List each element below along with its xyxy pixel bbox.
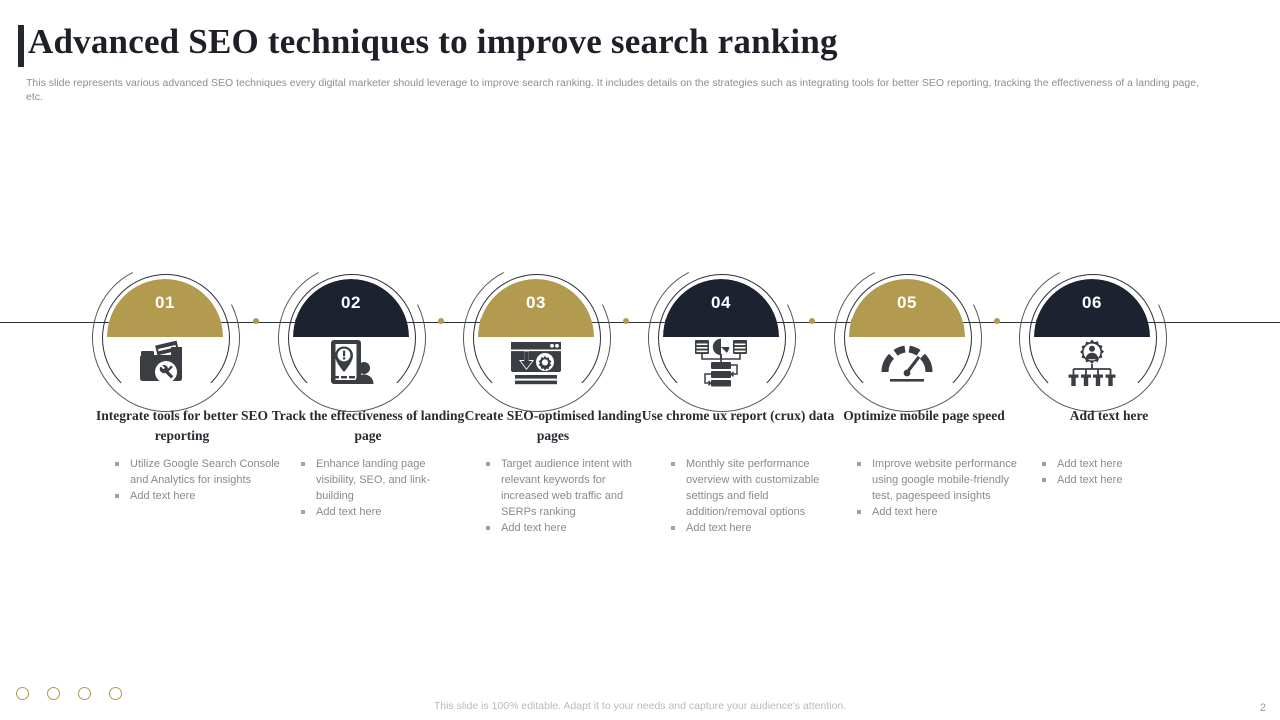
list-item: Add text here <box>670 520 838 536</box>
step-number-label: 06 <box>1034 293 1150 313</box>
step-bullet-list: Improve website performance using google… <box>856 456 1024 520</box>
step-01: 01 Integrate tools for better SEO report… <box>84 258 280 406</box>
data-flow-pie-chart-icon <box>691 335 751 391</box>
step-disc: 06 <box>1034 279 1150 395</box>
browser-download-gear-icon <box>506 335 566 391</box>
step-disc: 02 <box>293 279 409 395</box>
footer-dot <box>47 687 60 700</box>
step-bullet-list: Utilize Google Search Console and Analyt… <box>114 456 282 504</box>
step-heading: Add text here <box>1011 406 1207 426</box>
list-item: Enhance landing page visibility, SEO, an… <box>300 456 468 504</box>
step-disc: 04 <box>663 279 779 395</box>
folder-tools-icon <box>135 335 195 391</box>
step-circle-03[interactable]: 03 <box>455 258 651 406</box>
list-item: Add text here <box>114 488 282 504</box>
step-disc: 01 <box>107 279 223 395</box>
step-disc: 03 <box>478 279 594 395</box>
list-item: Add text here <box>1041 472 1209 488</box>
footer-note: This slide is 100% editable. Adapt it to… <box>0 700 1280 712</box>
step-disc: 05 <box>849 279 965 395</box>
step-heading: Track the effectiveness of landing page <box>270 406 466 446</box>
steps-container: 01 Integrate tools for better SEO report… <box>0 0 1280 720</box>
step-heading: Use chrome ux report (crux) data <box>640 406 836 426</box>
list-item: Add text here <box>300 504 468 520</box>
list-item: Utilize Google Search Console and Analyt… <box>114 456 282 488</box>
footer-dot <box>16 687 29 700</box>
step-circle-05[interactable]: 05 <box>826 258 1022 406</box>
mobile-location-pin-user-icon <box>321 335 381 391</box>
step-number-label: 03 <box>478 293 594 313</box>
step-05: 05 Optimize mobile page speedImprove web… <box>826 258 1022 406</box>
step-circle-04[interactable]: 04 <box>640 258 836 406</box>
step-04: 04 Use chrome ux report (crux) dataMonth… <box>640 258 836 406</box>
list-item: Add text here <box>485 520 653 536</box>
step-number-label: 01 <box>107 293 223 313</box>
step-circle-01[interactable]: 01 <box>84 258 280 406</box>
step-02: 02 Track the effectiveness of landing pa… <box>270 258 466 406</box>
step-bullet-list: Enhance landing page visibility, SEO, an… <box>300 456 468 520</box>
step-number-label: 05 <box>849 293 965 313</box>
page-number: 2 <box>1260 702 1266 714</box>
speedometer-gauge-icon <box>877 335 937 391</box>
list-item: Add text here <box>1041 456 1209 472</box>
step-06: 06 Add text hereAdd text hereAdd text he… <box>1011 258 1207 406</box>
step-heading: Optimize mobile page speed <box>826 406 1022 426</box>
step-bullet-list: Add text hereAdd text here <box>1041 456 1209 488</box>
step-03: 03 Create SEO-optimised landing pagesTar… <box>455 258 651 406</box>
list-item: Improve website performance using google… <box>856 456 1024 504</box>
step-circle-02[interactable]: 02 <box>270 258 466 406</box>
step-circle-06[interactable]: 06 <box>1011 258 1207 406</box>
step-heading: Create SEO-optimised landing pages <box>455 406 651 446</box>
step-number-label: 04 <box>663 293 779 313</box>
list-item: Target audience intent with relevant key… <box>485 456 653 520</box>
list-item: Monthly site performance overview with c… <box>670 456 838 520</box>
org-chart-person-gear-icon <box>1062 335 1122 391</box>
step-heading: Integrate tools for better SEO reporting <box>84 406 280 446</box>
footer-dot <box>78 687 91 700</box>
footer-dot <box>109 687 122 700</box>
footer-decorative-dots <box>16 687 122 700</box>
step-bullet-list: Target audience intent with relevant key… <box>485 456 653 536</box>
step-number-label: 02 <box>293 293 409 313</box>
step-bullet-list: Monthly site performance overview with c… <box>670 456 838 536</box>
list-item: Add text here <box>856 504 1024 520</box>
